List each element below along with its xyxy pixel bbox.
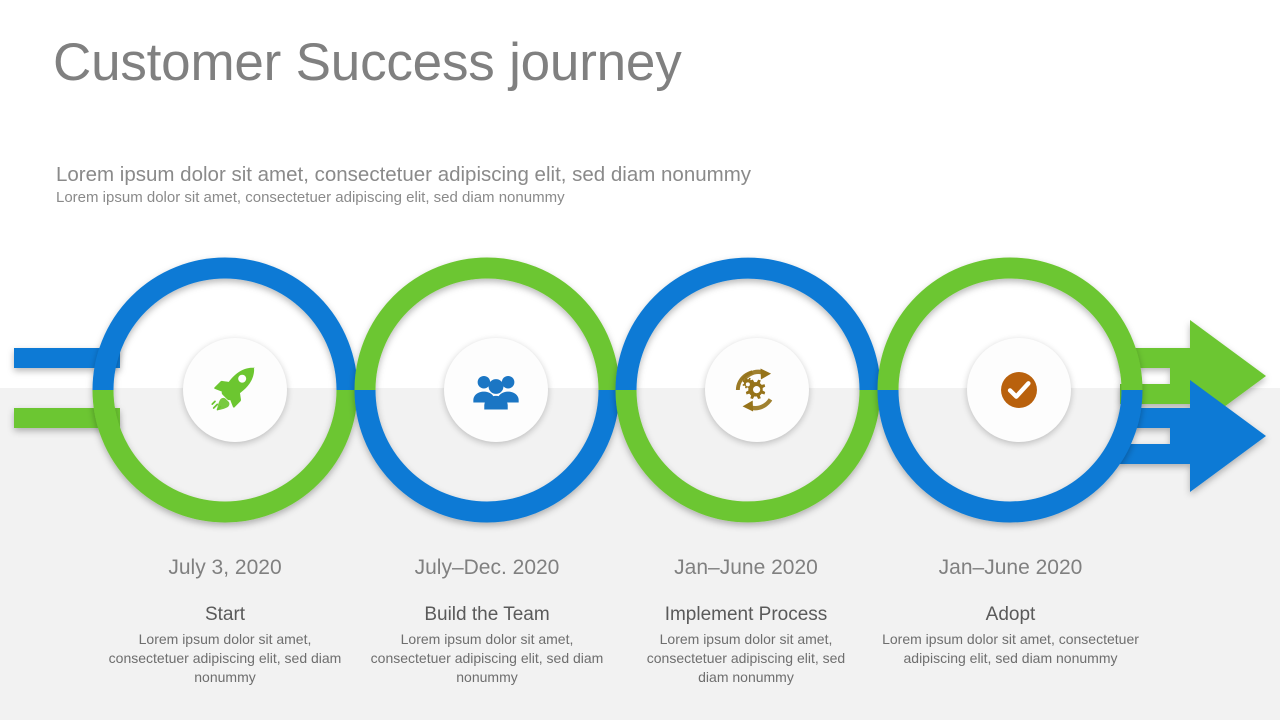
people-group-icon (471, 365, 521, 415)
step-1-date: July 3, 2020 (100, 556, 350, 580)
step-2-icon-disc[interactable] (444, 338, 548, 442)
slide-canvas: Customer Success journey Lorem ipsum dol… (0, 0, 1280, 720)
step-3-heading: Implement Process (645, 603, 847, 627)
step-1-caption: July 3, 2020 Start Lorem ipsum dolor sit… (100, 556, 350, 686)
step-1-icon-disc[interactable] (183, 338, 287, 442)
step-3-caption: Jan–June 2020 Implement Process Lorem ip… (645, 556, 847, 686)
check-circle-icon (994, 365, 1044, 415)
step-4-date: Jan–June 2020 (872, 556, 1149, 580)
step-1-body: Lorem ipsum dolor sit amet, consectetuer… (100, 630, 350, 686)
step-2-body: Lorem ipsum dolor sit amet, consectetuer… (362, 630, 612, 686)
subtitle-primary: Lorem ipsum dolor sit amet, consectetuer… (56, 163, 751, 187)
step-4-caption: Jan–June 2020 Adopt Lorem ipsum dolor si… (872, 556, 1149, 668)
step-2-date: July–Dec. 2020 (362, 556, 612, 580)
subtitle-secondary: Lorem ipsum dolor sit amet, consectetuer… (56, 189, 565, 206)
page-title: Customer Success journey (53, 33, 682, 94)
step-3-icon-disc[interactable] (705, 338, 809, 442)
step-4-icon-disc[interactable] (967, 338, 1071, 442)
step-4-heading: Adopt (872, 603, 1149, 627)
gears-cycle-icon (732, 365, 782, 415)
step-4-body: Lorem ipsum dolor sit amet, consectetuer… (872, 630, 1149, 667)
step-2-caption: July–Dec. 2020 Build the Team Lorem ipsu… (362, 556, 612, 686)
step-1-heading: Start (100, 603, 350, 627)
step-3-body: Lorem ipsum dolor sit amet, consectetuer… (645, 630, 847, 686)
rocket-icon (210, 365, 260, 415)
step-2-heading: Build the Team (362, 603, 612, 627)
step-3-date: Jan–June 2020 (645, 556, 847, 580)
